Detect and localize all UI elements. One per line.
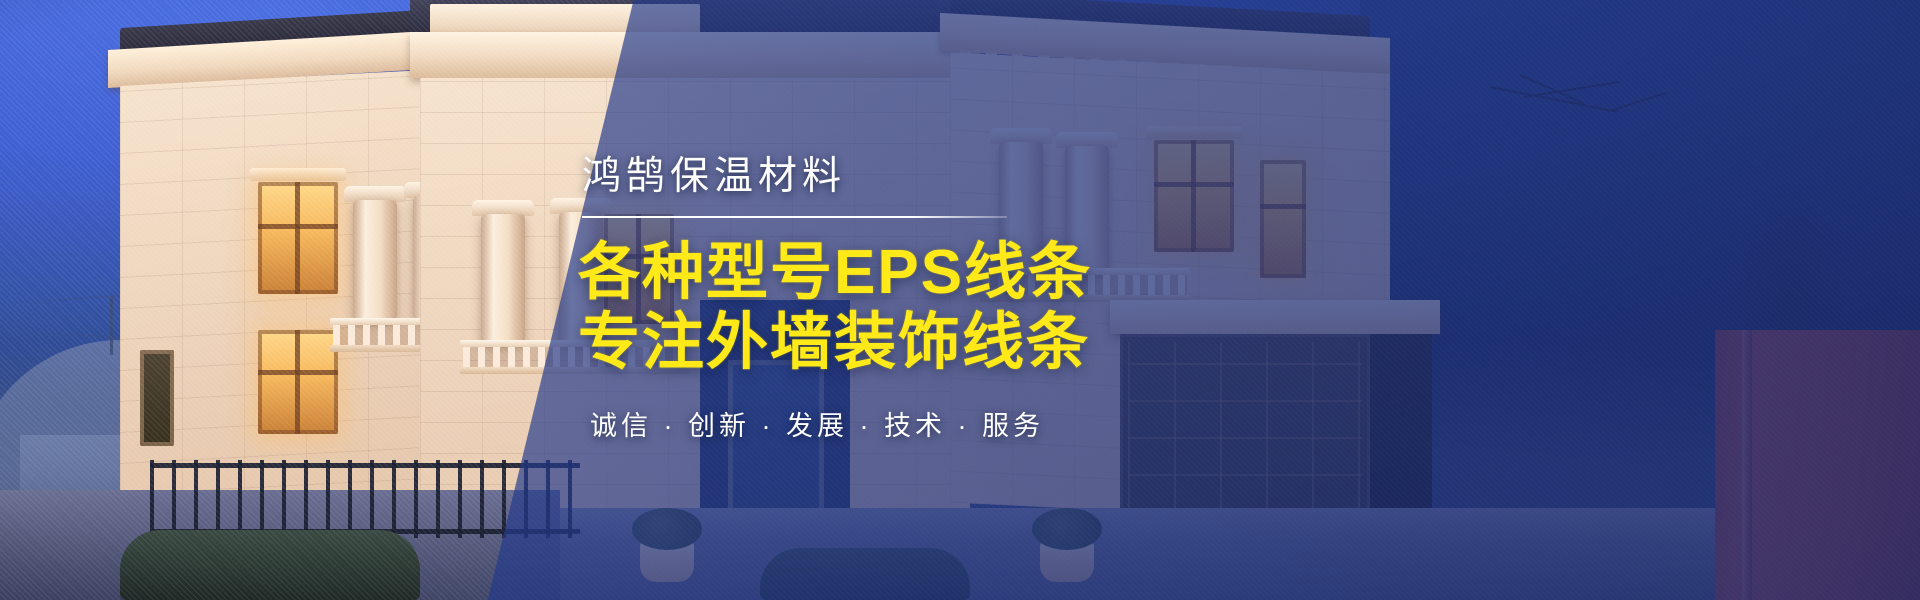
lit-window: [258, 182, 338, 294]
promo-banner: 鸿鹄保温材料 各种型号EPS线条 专注外墙装饰线条 诚信 · 创新 · 发展 ·…: [0, 0, 1920, 600]
brand-name: 鸿鹄保温材料: [582, 157, 1320, 196]
tagline: 诚信 · 创新 · 发展 · 技术 · 服务: [590, 404, 1320, 443]
headline-line-2: 专注外墙装饰线条: [578, 310, 1320, 376]
iron-fence: [150, 460, 580, 538]
column: [481, 214, 525, 344]
divider-rule: [582, 216, 1007, 218]
headline-line-1: 各种型号EPS线条: [578, 240, 1320, 306]
lit-window: [258, 330, 338, 434]
window-mullion: [295, 182, 300, 294]
window-mullion: [295, 330, 300, 434]
window-transom: [258, 224, 338, 229]
column: [353, 200, 397, 320]
dark-window: [140, 350, 174, 446]
window-hood: [250, 168, 346, 181]
conifer-tree: [1730, 180, 1850, 350]
banner-copy: 鸿鹄保温材料 各种型号EPS线条 专注外墙装饰线条 诚信 · 创新 · 发展 ·…: [560, 0, 1320, 600]
window-transom: [258, 370, 338, 375]
hedge-row: [120, 530, 420, 600]
container-edge-rib: [1742, 330, 1752, 600]
